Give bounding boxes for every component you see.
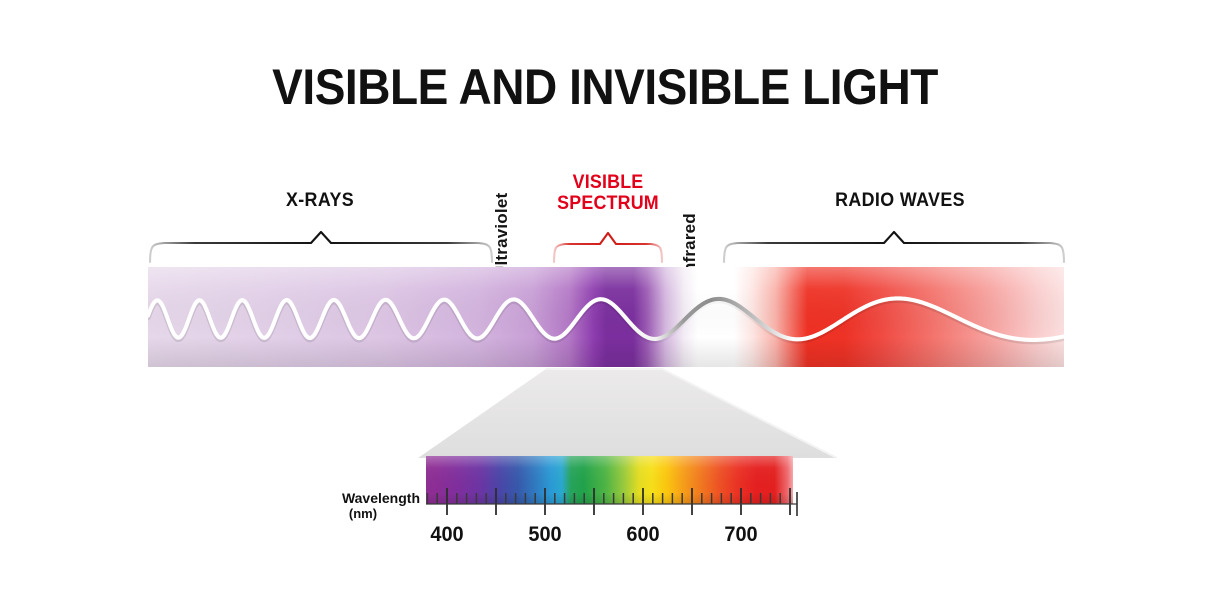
tick-label-400: 400 bbox=[419, 523, 476, 547]
axis-label-wavelength: Wavelength (nm) bbox=[316, 490, 420, 522]
main-spectrum-bar bbox=[148, 267, 1064, 367]
rainbow-shading bbox=[426, 456, 793, 504]
main-bar-shading bbox=[148, 267, 1064, 367]
brace-radio-waves bbox=[722, 228, 1066, 264]
tick-label-700: 700 bbox=[713, 523, 770, 547]
brace-xrays bbox=[148, 228, 494, 264]
tick-label-600: 600 bbox=[615, 523, 672, 547]
brace-visible-spectrum bbox=[552, 228, 666, 264]
visible-spectrum-line1: VISIBLE bbox=[573, 172, 644, 193]
page-title: VISIBLE AND INVISIBLE LIGHT bbox=[48, 58, 1161, 116]
region-label-ultraviolet: Ultraviolet bbox=[492, 193, 512, 278]
region-label-xrays: X-RAYS bbox=[212, 190, 428, 212]
wavelength-text: Wavelength bbox=[342, 490, 420, 506]
visible-spectrum-line2: SPECTRUM bbox=[533, 193, 683, 214]
infographic-canvas: VISIBLE AND INVISIBLE LIGHT X-RAYS VISIB… bbox=[0, 0, 1210, 601]
funnel-connector bbox=[400, 367, 840, 463]
region-label-radio-waves: RADIO WAVES bbox=[797, 190, 1004, 212]
wavelength-unit: (nm) bbox=[316, 506, 420, 522]
tick-label-500: 500 bbox=[517, 523, 574, 547]
region-label-visible-spectrum: VISIBLE SPECTRUM bbox=[533, 172, 683, 214]
funnel-shape bbox=[418, 369, 837, 458]
